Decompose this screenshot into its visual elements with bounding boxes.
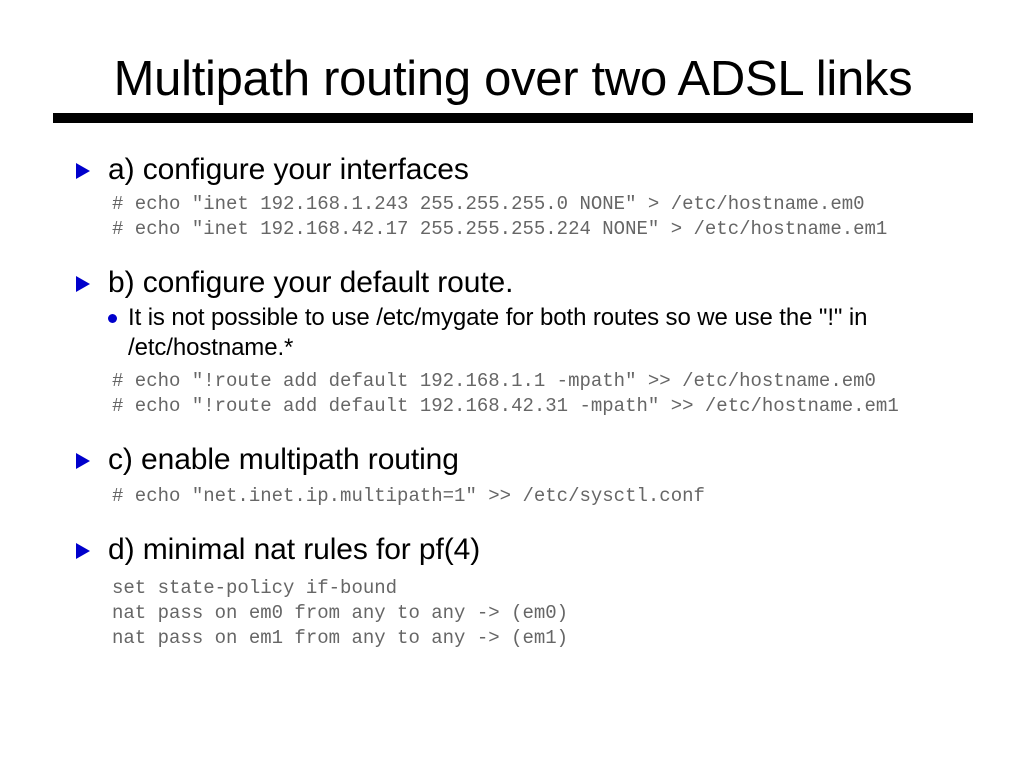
code-block-a: # echo "inet 192.168.1.243 255.255.255.0… [0, 192, 1024, 242]
triangle-right-icon [76, 276, 90, 292]
title-underline-rule [53, 113, 973, 123]
triangle-right-icon [76, 543, 90, 559]
sub-bullet-label-b: It is not possible to use /etc/mygate fo… [128, 304, 867, 361]
code-line: nat pass on em1 from any to any -> (em1) [112, 626, 1024, 651]
code-line: # echo "!route add default 192.168.42.31… [112, 394, 1024, 419]
code-block-c: # echo "net.inet.ip.multipath=1" >> /etc… [0, 484, 1024, 509]
code-line: nat pass on em0 from any to any -> (em0) [112, 601, 1024, 626]
page-title: Multipath routing over two ADSL links [53, 50, 973, 108]
code-line: # echo "!route add default 192.168.1.1 -… [112, 369, 1024, 394]
section-d: d) minimal nat rules for pf(4) set state… [0, 532, 1024, 651]
bullet-item-d: d) minimal nat rules for pf(4) [0, 532, 1024, 568]
bullet-label-a: a) configure your interfaces [108, 153, 469, 186]
section-a: a) configure your interfaces # echo "ine… [0, 152, 1024, 242]
triangle-right-icon [76, 453, 90, 469]
bullet-label-d: d) minimal nat rules for pf(4) [108, 533, 480, 566]
section-c: c) enable multipath routing # echo "net.… [0, 442, 1024, 509]
bullet-item-c: c) enable multipath routing [0, 442, 1024, 478]
code-line: # echo "inet 192.168.1.243 255.255.255.0… [112, 192, 1024, 217]
code-line: # echo "net.inet.ip.multipath=1" >> /etc… [112, 484, 1024, 509]
bullet-label-b: b) configure your default route. [108, 266, 513, 299]
code-line: set state-policy if-bound [112, 576, 1024, 601]
dot-icon [108, 314, 117, 323]
bullet-item-b: b) configure your default route. [0, 265, 1024, 301]
section-b: b) configure your default route. It is n… [0, 265, 1024, 419]
slide-body: a) configure your interfaces # echo "ine… [0, 152, 1024, 651]
code-block-b: # echo "!route add default 192.168.1.1 -… [0, 369, 1024, 419]
bullet-label-c: c) enable multipath routing [108, 443, 459, 476]
triangle-right-icon [76, 163, 90, 179]
bullet-item-a: a) configure your interfaces [0, 152, 1024, 188]
sub-bullet-item-b: It is not possible to use /etc/mygate fo… [0, 303, 1024, 363]
code-block-d: set state-policy if-bound nat pass on em… [0, 576, 1024, 651]
presentation-slide: Multipath routing over two ADSL links a)… [0, 0, 1024, 768]
code-line: # echo "inet 192.168.42.17 255.255.255.2… [112, 217, 1024, 242]
slide-title-block: Multipath routing over two ADSL links [53, 50, 973, 123]
